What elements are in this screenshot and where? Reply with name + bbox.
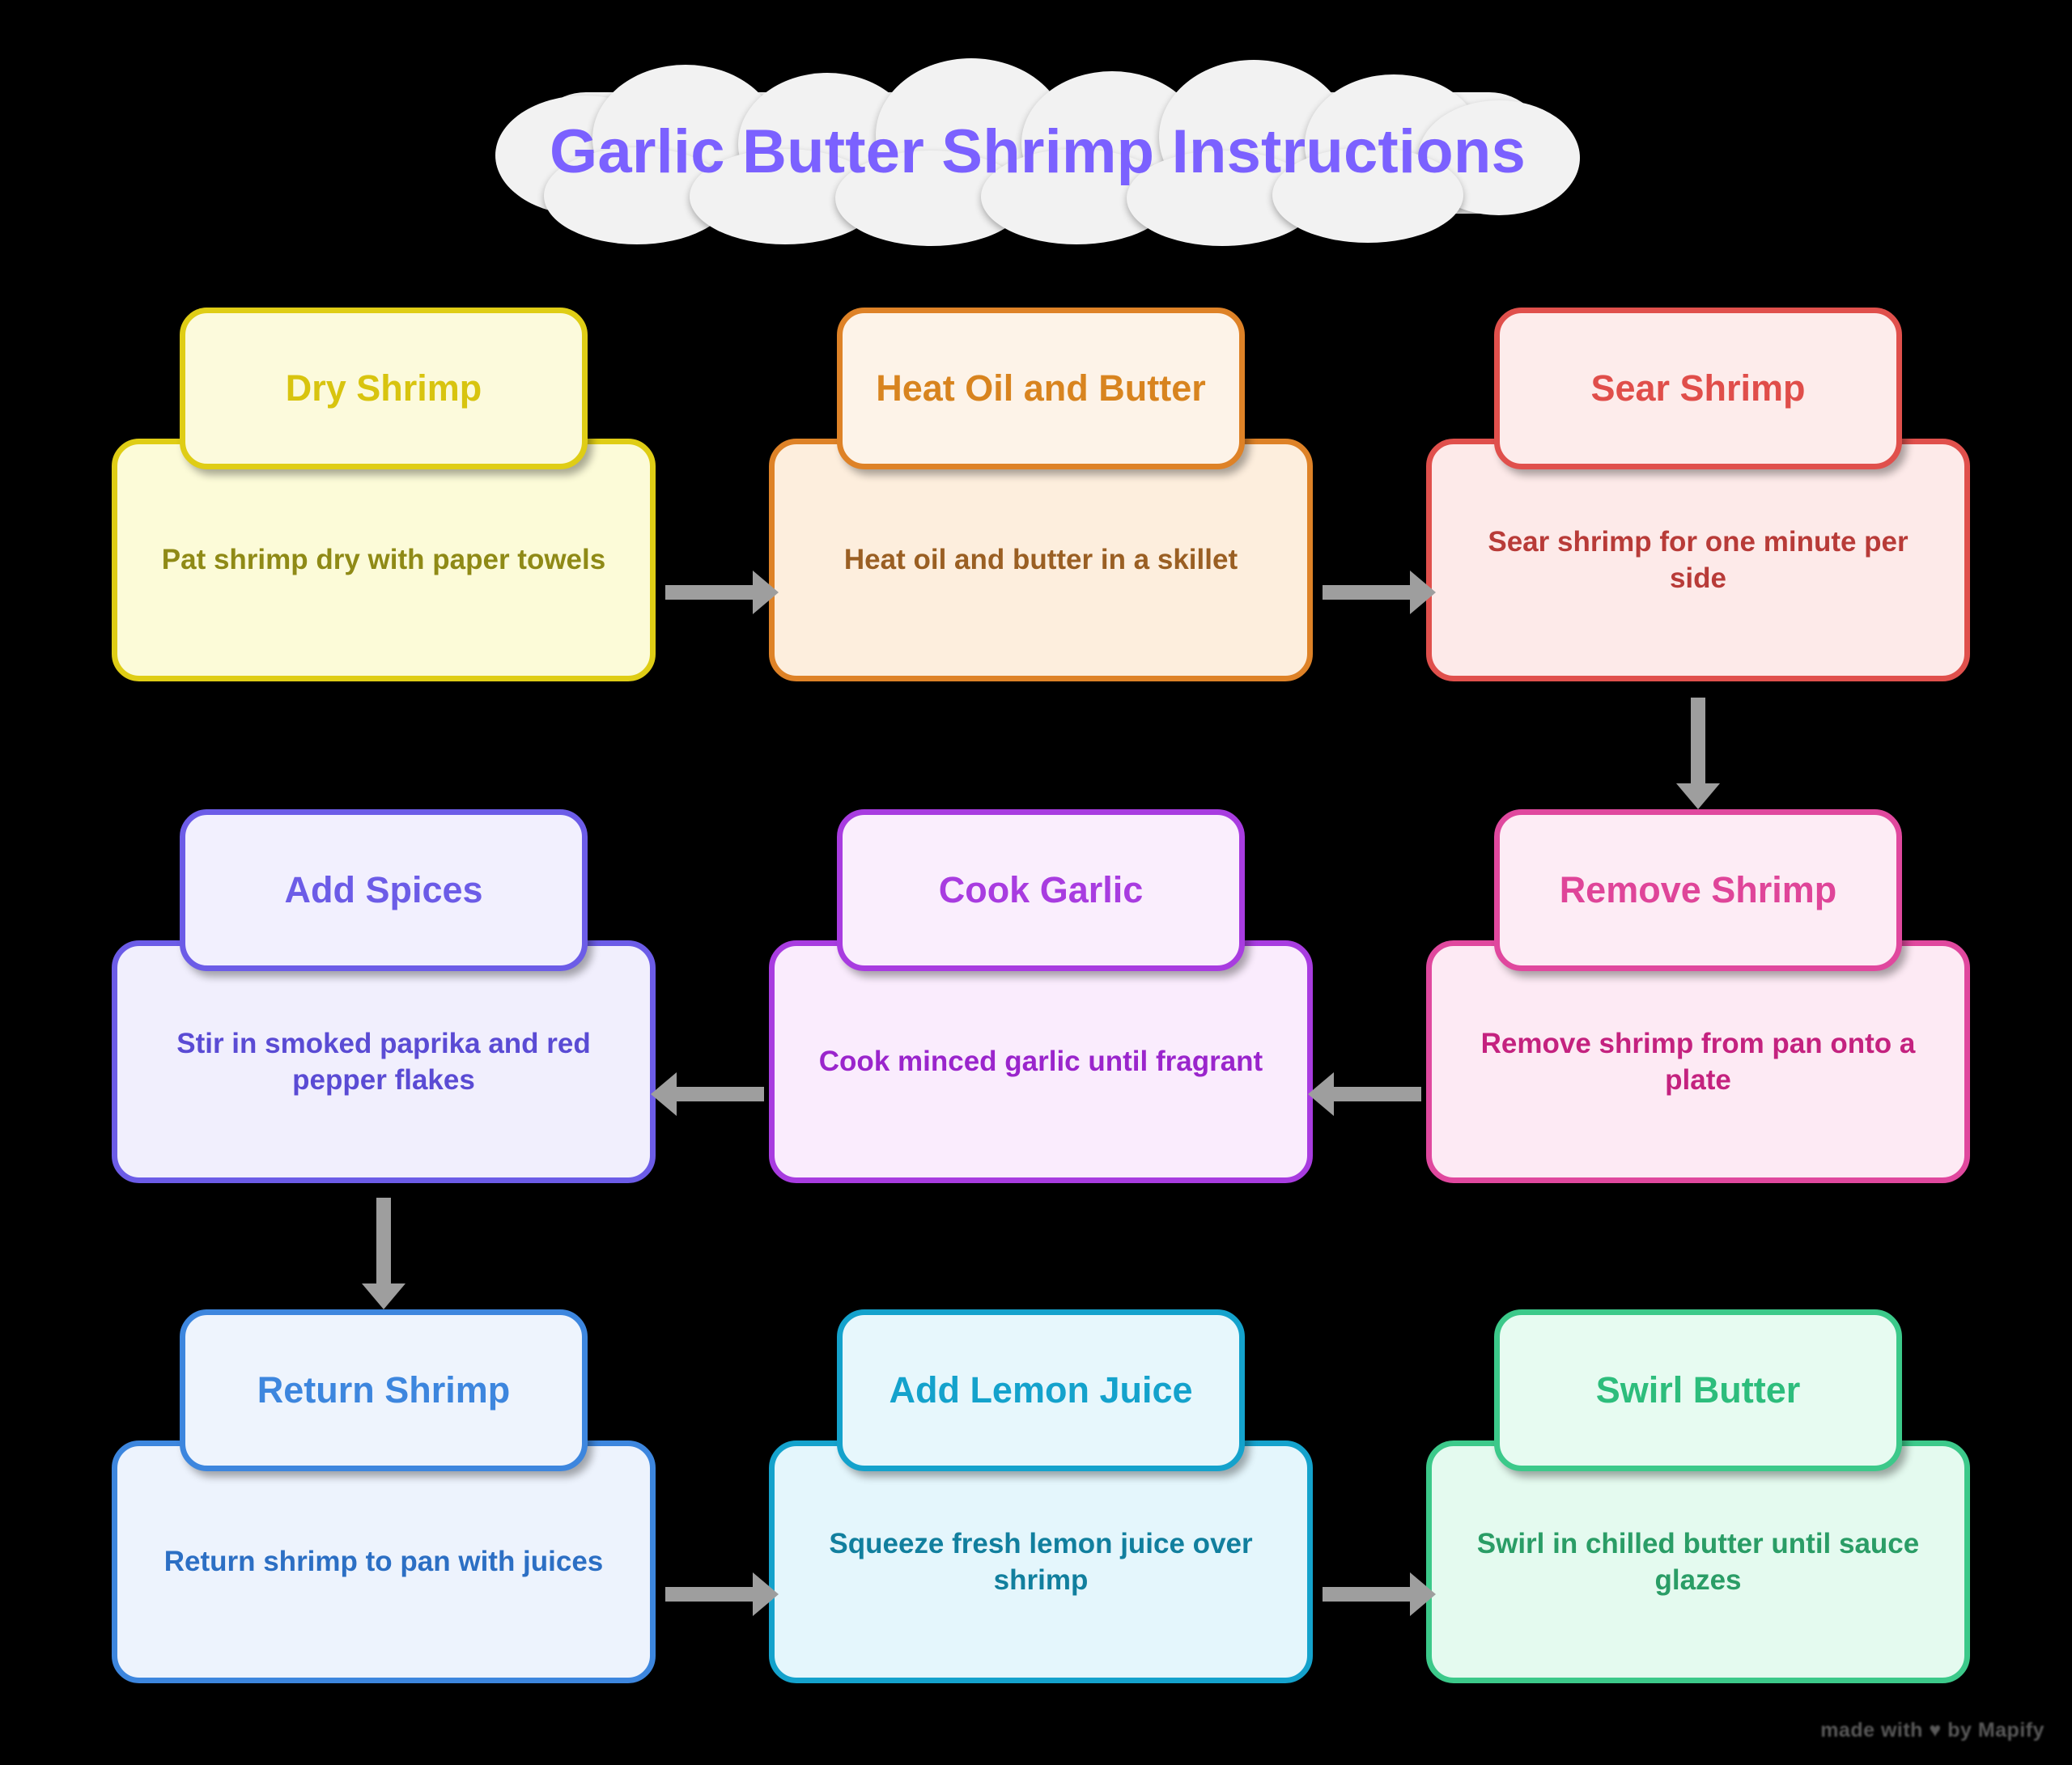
arrow-add-spices-to-return-shrimp — [376, 1198, 391, 1285]
node-heading: Swirl Butter — [1596, 1368, 1801, 1413]
arrow-heat-oil-to-sear-shrimp — [1323, 585, 1412, 600]
node-heading: Heat Oil and Butter — [876, 367, 1206, 411]
node-header: Add Spices — [180, 809, 588, 971]
node-body: Return shrimp to pan with juices — [112, 1440, 656, 1683]
node-body: Remove shrimp from pan onto a plate — [1426, 940, 1970, 1183]
node-header: Heat Oil and Butter — [837, 308, 1245, 469]
node-heading: Remove Shrimp — [1560, 868, 1837, 913]
node-description: Cook minced garlic until fragrant — [819, 1043, 1263, 1080]
watermark-suffix: by Mapify — [1947, 1719, 2044, 1742]
node-header: Swirl Butter — [1494, 1309, 1902, 1471]
arrow-sear-shrimp-to-remove-shrimp — [1691, 698, 1705, 785]
heart-icon: ♥ — [1929, 1719, 1941, 1742]
node-body: Stir in smoked paprika and red pepper fl… — [112, 940, 656, 1183]
node-body: Cook minced garlic until fragrant — [769, 940, 1313, 1183]
node-body: Pat shrimp dry with paper towels — [112, 439, 656, 681]
arrow-cook-garlic-to-add-spices — [675, 1087, 764, 1101]
node-description: Stir in smoked paprika and red pepper fl… — [153, 1025, 614, 1099]
node-heading: Add Spices — [284, 868, 482, 913]
node-description: Squeeze fresh lemon juice over shrimp — [810, 1525, 1272, 1599]
node-body: Squeeze fresh lemon juice over shrimp — [769, 1440, 1313, 1683]
node-body: Heat oil and butter in a skillet — [769, 439, 1313, 681]
node-header: Return Shrimp — [180, 1309, 588, 1471]
node-heading: Add Lemon Juice — [889, 1368, 1192, 1413]
node-header: Remove Shrimp — [1494, 809, 1902, 971]
node-body: Sear shrimp for one minute per side — [1426, 439, 1970, 681]
node-description: Remove shrimp from pan onto a plate — [1467, 1025, 1929, 1099]
node-heading: Cook Garlic — [939, 868, 1144, 913]
arrow-return-shrimp-to-add-lemon-juice — [665, 1587, 754, 1602]
node-header: Add Lemon Juice — [837, 1309, 1245, 1471]
arrow-dry-shrimp-to-heat-oil — [665, 585, 754, 600]
node-description: Sear shrimp for one minute per side — [1467, 524, 1929, 597]
watermark-prefix: made with — [1820, 1719, 1923, 1742]
page-title: Garlic Butter Shrimp Instructions — [495, 58, 1580, 244]
node-heading: Sear Shrimp — [1590, 367, 1805, 411]
node-body: Swirl in chilled butter until sauce glaz… — [1426, 1440, 1970, 1683]
node-description: Heat oil and butter in a skillet — [844, 541, 1238, 579]
node-description: Pat shrimp dry with paper towels — [162, 541, 605, 579]
arrow-add-lemon-juice-to-swirl-butter — [1323, 1587, 1412, 1602]
watermark: made with ♥ by Mapify — [1820, 1719, 2044, 1742]
node-header: Sear Shrimp — [1494, 308, 1902, 469]
node-header: Cook Garlic — [837, 809, 1245, 971]
node-header: Dry Shrimp — [180, 308, 588, 469]
arrow-remove-shrimp-to-cook-garlic — [1332, 1087, 1421, 1101]
node-description: Swirl in chilled butter until sauce glaz… — [1467, 1525, 1929, 1599]
node-heading: Return Shrimp — [257, 1368, 511, 1413]
node-heading: Dry Shrimp — [286, 367, 482, 411]
node-description: Return shrimp to pan with juices — [164, 1543, 604, 1580]
title-cloud: Garlic Butter Shrimp Instructions — [495, 58, 1580, 244]
